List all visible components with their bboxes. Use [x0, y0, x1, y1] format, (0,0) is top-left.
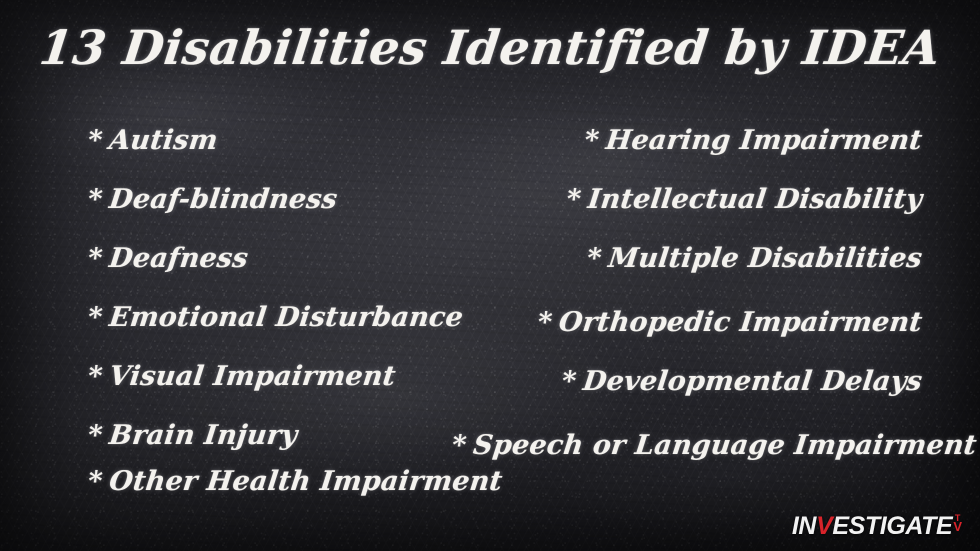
list-item: *Speech or Language Impairment [450, 431, 924, 461]
list-item-label: Deaf-blindness [107, 184, 339, 215]
bullet-star-icon: * [560, 366, 578, 397]
list-item-label: Developmental Delays [581, 366, 924, 397]
logo-accent-letter: V [816, 514, 832, 539]
logo-text-part2: ESTIGATE [832, 514, 952, 539]
list-item: *Developmental Delays [450, 367, 924, 397]
list-item: *Hearing Impairment [450, 126, 924, 156]
bullet-star-icon: * [86, 243, 104, 274]
list-item-label: Speech or Language Impairment [471, 430, 978, 461]
disability-list-right-column: *Hearing Impairment *Intellectual Disabi… [452, 126, 922, 490]
logo-text-part1: IN [792, 514, 816, 539]
bullet-star-icon: * [583, 125, 601, 156]
bullet-star-icon: * [565, 184, 583, 215]
bullet-star-icon: * [585, 243, 603, 274]
list-item-label: Other Health Impairment [107, 466, 504, 497]
page-title: 13 Disabilities Identified by IDEA [0, 20, 980, 78]
list-item-label: Deafness [107, 243, 249, 274]
bullet-star-icon: * [450, 430, 468, 461]
logo-wordmark: INVESTIGATE [792, 514, 952, 539]
list-item-label: Autism [107, 125, 219, 156]
logo-tv-mark: T V [953, 514, 962, 531]
list-item: *Orthopedic Impairment [450, 308, 924, 338]
chalkboard-slide: 13 Disabilities Identified by IDEA *Auti… [0, 0, 980, 551]
bullet-star-icon: * [86, 466, 104, 497]
investigate-tv-logo: INVESTIGATE T V [792, 514, 962, 539]
list-item-label: Orthopedic Impairment [557, 307, 924, 338]
bullet-star-icon: * [86, 420, 104, 451]
bullet-star-icon: * [86, 361, 104, 392]
list-item-label: Brain Injury [107, 420, 299, 451]
bullet-star-icon: * [86, 184, 104, 215]
bullet-star-icon: * [536, 307, 554, 338]
list-item-label: Visual Impairment [107, 361, 397, 392]
logo-tv-v: V [953, 522, 962, 531]
bullet-star-icon: * [86, 302, 104, 333]
list-item: *Intellectual Disability [450, 185, 924, 215]
bullet-star-icon: * [86, 125, 104, 156]
list-item: *Multiple Disabilities [450, 244, 924, 274]
list-item-label: Intellectual Disability [586, 184, 924, 215]
list-item-label: Hearing Impairment [604, 125, 924, 156]
list-item-label: Multiple Disabilities [607, 243, 924, 274]
list-item-label: Emotional Disturbance [107, 302, 465, 333]
